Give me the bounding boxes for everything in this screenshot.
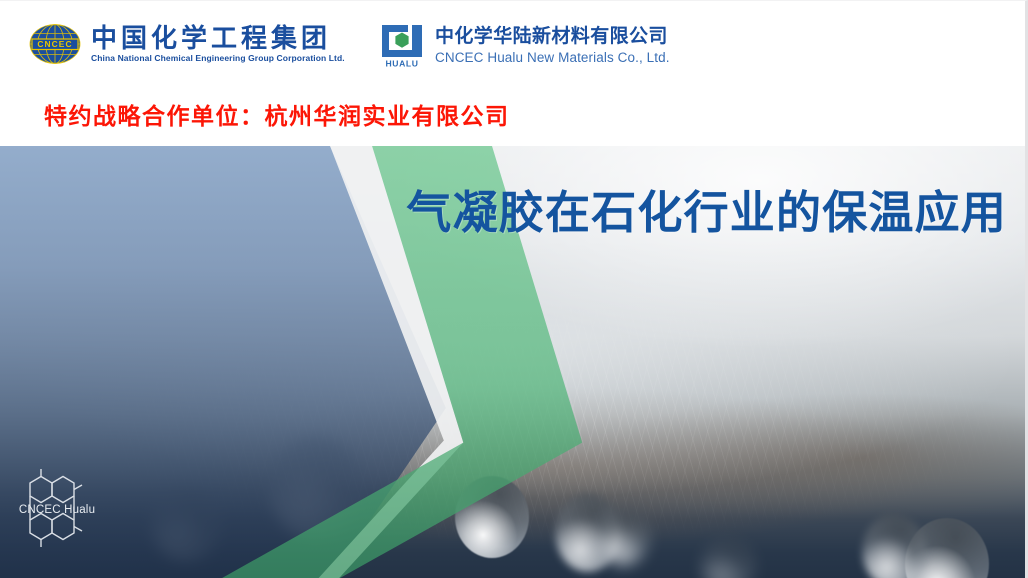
cncec-name-en: China National Chemical Engineering Grou… bbox=[91, 52, 345, 65]
hualu-name-en: CNCEC Hualu New Materials Co., Ltd. bbox=[435, 49, 670, 67]
hero-banner: 气凝胶在石化行业的保温应用 bbox=[0, 146, 1025, 578]
logo-cncec: CNCEC 中国化学工程集团 China National Chemical E… bbox=[28, 23, 345, 65]
slide-title: 气凝胶在石化行业的保温应用 bbox=[406, 176, 1007, 241]
water-droplet bbox=[862, 514, 926, 578]
hualu-hexagon-icon: HUALU bbox=[378, 23, 426, 69]
cncec-name-cn: 中国化学工程集团 bbox=[91, 25, 345, 52]
watermark-logo: CNCEC Hualu bbox=[10, 465, 104, 557]
water-droplet bbox=[598, 508, 650, 566]
logo-row: CNCEC 中国化学工程集团 China National Chemical E… bbox=[0, 23, 1025, 75]
watermark-label: CNCEC Hualu bbox=[10, 504, 104, 516]
presentation-slide: CNCEC 中国化学工程集团 China National Chemical E… bbox=[0, 0, 1028, 578]
cncec-text-block: 中国化学工程集团 China National Chemical Enginee… bbox=[91, 23, 345, 65]
globe-emblem-icon: CNCEC bbox=[28, 23, 82, 65]
hualu-text-block: 中化学华陆新材料有限公司 CNCEC Hualu New Materials C… bbox=[435, 25, 670, 67]
partner-banner: 特约战略合作单位：杭州华润实业有限公司 bbox=[44, 97, 510, 131]
svg-text:HUALU: HUALU bbox=[385, 59, 418, 69]
svg-text:CNCEC: CNCEC bbox=[37, 39, 72, 49]
logo-hualu: HUALU 中化学华陆新材料有限公司 CNCEC Hualu New Mater… bbox=[378, 23, 670, 69]
slide-header: CNCEC 中国化学工程集团 China National Chemical E… bbox=[0, 1, 1025, 146]
hualu-name-cn: 中化学华陆新材料有限公司 bbox=[435, 25, 670, 49]
